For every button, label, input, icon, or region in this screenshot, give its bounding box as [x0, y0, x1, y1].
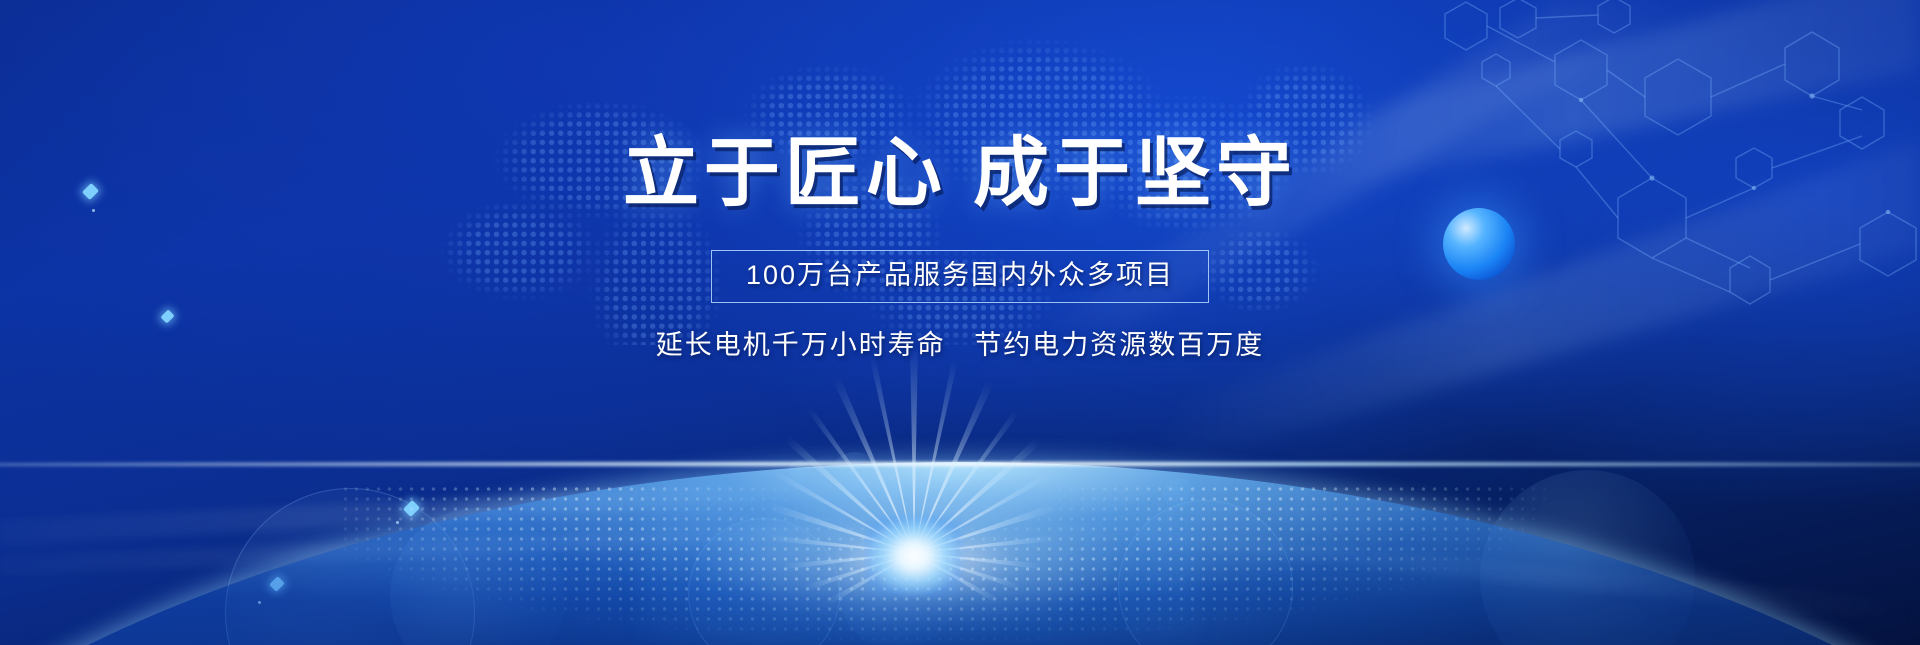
hero-banner: 立于匠心 成于坚守 100万台产品服务国内外众多项目 延长电机千万小时寿命 节约… — [0, 0, 1920, 645]
banner-subline: 延长电机千万小时寿命 节约电力资源数百万度 — [656, 332, 1265, 359]
banner-headline: 立于匠心 成于坚守 — [623, 136, 1297, 212]
tagline-text: 100万台产品服务国内外众多项目 — [746, 262, 1174, 289]
banner-content: 立于匠心 成于坚守 100万台产品服务国内外众多项目 延长电机千万小时寿命 节约… — [0, 0, 1920, 645]
tagline-box: 100万台产品服务国内外众多项目 — [711, 250, 1209, 303]
